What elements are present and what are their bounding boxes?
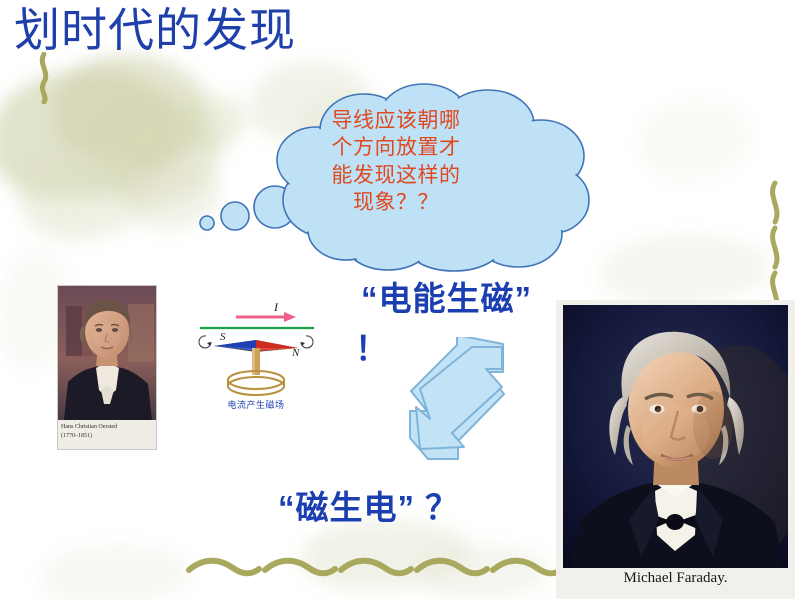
thought-bubble-line: 能发现这样的 [284, 162, 508, 189]
wavy-line-decoration-topleft [32, 52, 56, 104]
north-label: N [291, 347, 300, 359]
oersted-portrait-card: Hans Christian Oersted (1770–1851) [57, 285, 157, 450]
foliage-blob [0, 70, 180, 200]
compass-diagram-graphic: I S N [190, 298, 322, 402]
current-label-I: I [273, 300, 279, 314]
south-label: S [220, 331, 226, 343]
foliage-blob [55, 55, 205, 175]
thought-dot-small [200, 216, 214, 230]
foliage-blob [40, 545, 190, 600]
statement-exclamation-mark: ！ [355, 322, 389, 370]
faraday-caption: Michael Faraday. [556, 570, 795, 587]
current-arrowhead [284, 312, 296, 322]
thought-bubble-line: 个方向放置才 [284, 134, 508, 161]
thought-bubble-text: 导线应该朝哪 个方向放置才 能发现这样的 现象？？ [284, 107, 508, 216]
statement-magnetism-to-electricity: “磁生电” ？ [278, 481, 459, 529]
compass-field-diagram: I S N [190, 298, 322, 420]
thought-bubble: 导线应该朝哪 个方向放置才 能发现这样的 现象？？ [196, 82, 592, 272]
thought-bubble-line: 现象？？ [284, 189, 508, 216]
foliage-blob [640, 100, 750, 180]
thought-bubble-line: 导线应该朝哪 [284, 107, 508, 134]
slide-canvas: 划时代的发现 [0, 0, 800, 600]
faraday-portrait-card: Michael Faraday. [556, 300, 795, 599]
wavy-line-decoration-bottom [185, 556, 565, 578]
faraday-portrait-image [563, 305, 788, 568]
page-title: 划时代的发现 [14, 2, 296, 60]
statement-electricity-to-magnetism: “电能生磁” [361, 272, 532, 320]
thought-dot-medium [221, 202, 249, 230]
oersted-portrait-image [58, 286, 156, 420]
compass-diagram-caption: 电流产生磁场 [190, 398, 322, 411]
foliage-blob [600, 235, 770, 305]
wavy-line-decoration-right [762, 180, 788, 315]
foliage-blob [300, 520, 470, 590]
foliage-blob [20, 150, 150, 240]
down-left-arrow-icon [402, 337, 512, 462]
oersted-caption-name: Hans Christian Oersted [61, 423, 154, 432]
oersted-caption-dates: (1770–1851) [61, 432, 154, 441]
oersted-caption: Hans Christian Oersted (1770–1851) [58, 420, 156, 449]
